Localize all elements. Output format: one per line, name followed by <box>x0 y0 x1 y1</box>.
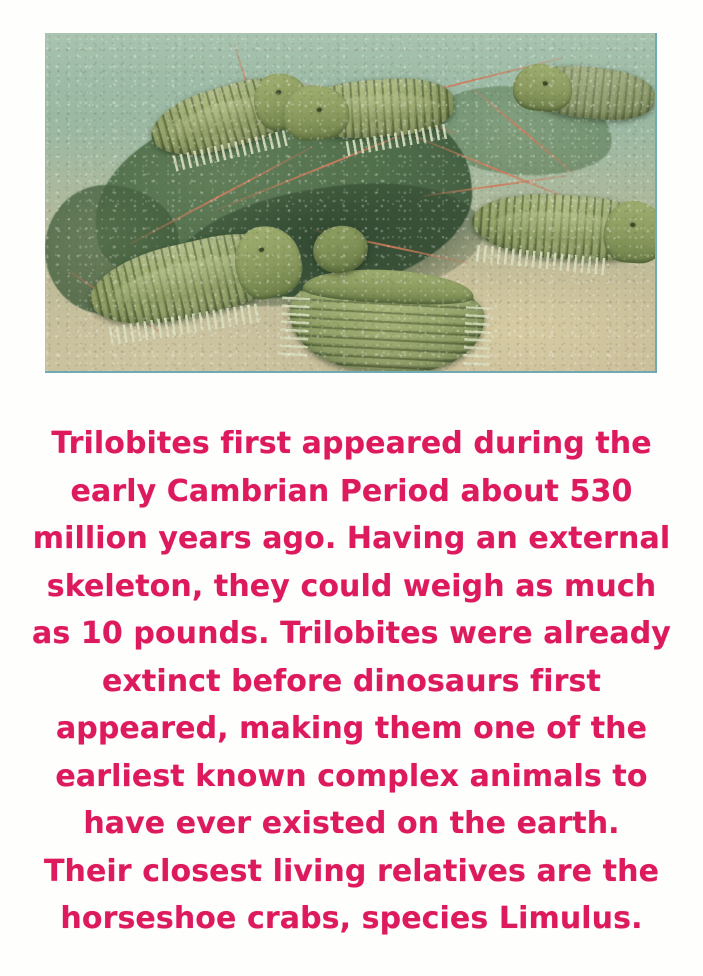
photo-canvas <box>45 33 655 371</box>
sand-grain-texture-fine <box>45 33 655 371</box>
trilobite-photo <box>45 33 657 373</box>
caption-line: extinct before dinosaurs first <box>0 658 703 706</box>
caption-line: skeleton, they could weigh as much <box>0 563 703 611</box>
caption-block: Trilobites first appeared during the ear… <box>0 420 703 943</box>
fact-card-page: Trilobites first appeared during the ear… <box>0 0 703 976</box>
caption-line: horseshoe crabs, species Limulus. <box>0 895 703 943</box>
caption-line: have ever existed on the earth. <box>0 800 703 848</box>
caption-line: Their closest living relatives are the <box>0 848 703 896</box>
caption-line: million years ago. Having an external <box>0 515 703 563</box>
caption-line: as 10 pounds. Trilobites were already <box>0 610 703 658</box>
caption-line: Trilobites first appeared during the <box>0 420 703 468</box>
caption-line: appeared, making them one of the <box>0 705 703 753</box>
caption-line: early Cambrian Period about 530 <box>0 468 703 516</box>
caption-line: earliest known complex animals to <box>0 753 703 801</box>
